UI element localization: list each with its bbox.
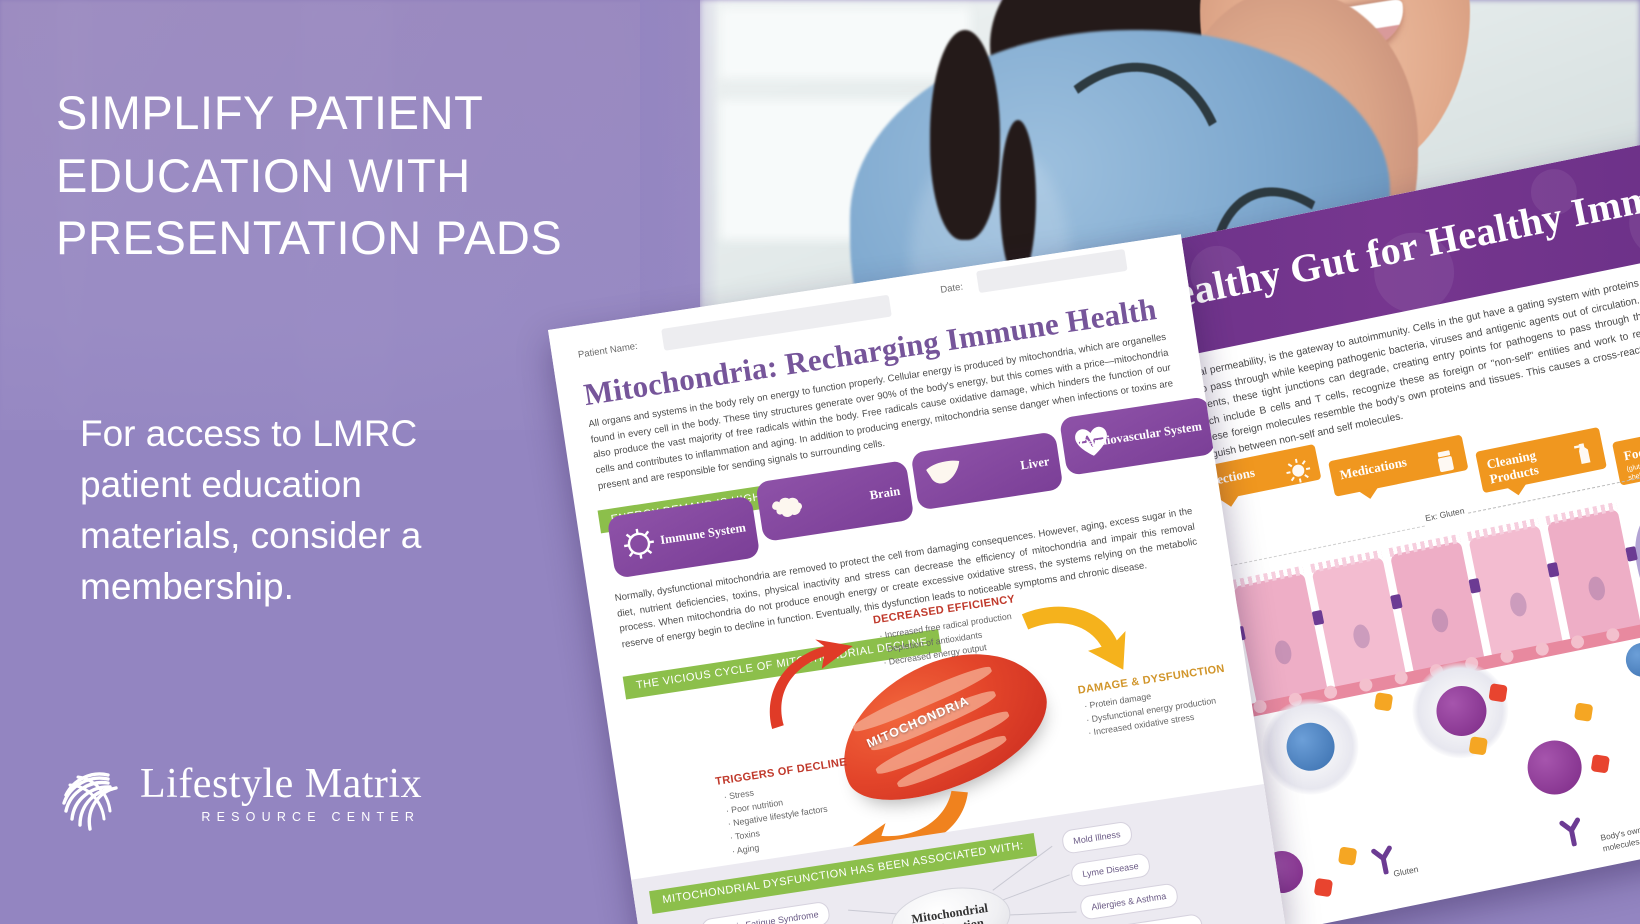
organ-label: Brain [869,484,901,503]
liver-icon [922,457,963,498]
tab-foods[interactable]: Foods (gluten, peanuts, shellfish, eggs,… [1612,417,1640,486]
logo-subtitle: RESOURCE CENTER [140,810,422,824]
brand-logo[interactable]: Lifestyle Matrix RESOURCE CENTER [56,757,456,835]
b-cell [1623,640,1640,680]
document-mitochondria[interactable]: Patient Name: Date: Mitochondria: Rechar… [548,234,1285,924]
antibody-icon [1556,816,1587,849]
brain-icon [767,488,808,529]
page-title: Simplify Patient Education with Presenta… [56,82,676,270]
virus-icon [619,523,660,564]
sun-germ-icon [1283,455,1314,486]
pill-bottle-icon [1430,446,1461,477]
tab-medications[interactable]: Medications [1328,434,1468,496]
woven-sphere-icon [56,761,128,833]
spray-bottle-icon [1567,438,1598,469]
organ-label: Immune System [659,520,747,548]
window-pane [720,8,970,78]
assoc-item: Allergies & Asthma [1079,882,1179,920]
hair-strand [930,30,1000,240]
logo-wordmark: Lifestyle Matrix RESOURCE CENTER [140,763,422,824]
organ-card-immune-system[interactable]: Immune System [607,496,761,579]
organ-card-brain[interactable]: Brain [755,460,914,542]
arrow-up-left-icon [748,631,870,736]
cycle-list-triggers: · Stress · Poor nutrition · Negative lif… [723,776,833,858]
assoc-item: Chronic Fatigue Syndrome [700,901,831,924]
arrow-down-right-icon [1014,582,1142,686]
t-cell [1523,736,1587,800]
tab-cleaning-products[interactable]: Cleaning Products [1475,427,1607,493]
assoc-item: Lyme Disease [1070,852,1151,887]
logo-name: Lifestyle Matrix [140,761,422,807]
organ-label: Liver [1019,454,1050,473]
promo-subcopy: For access to LMRC patient education mat… [80,408,520,612]
promotional-banner: A Healthy Gut for Healthy Immunity Leaky… [0,0,1640,924]
assoc-item: Mold Illness [1061,821,1133,855]
